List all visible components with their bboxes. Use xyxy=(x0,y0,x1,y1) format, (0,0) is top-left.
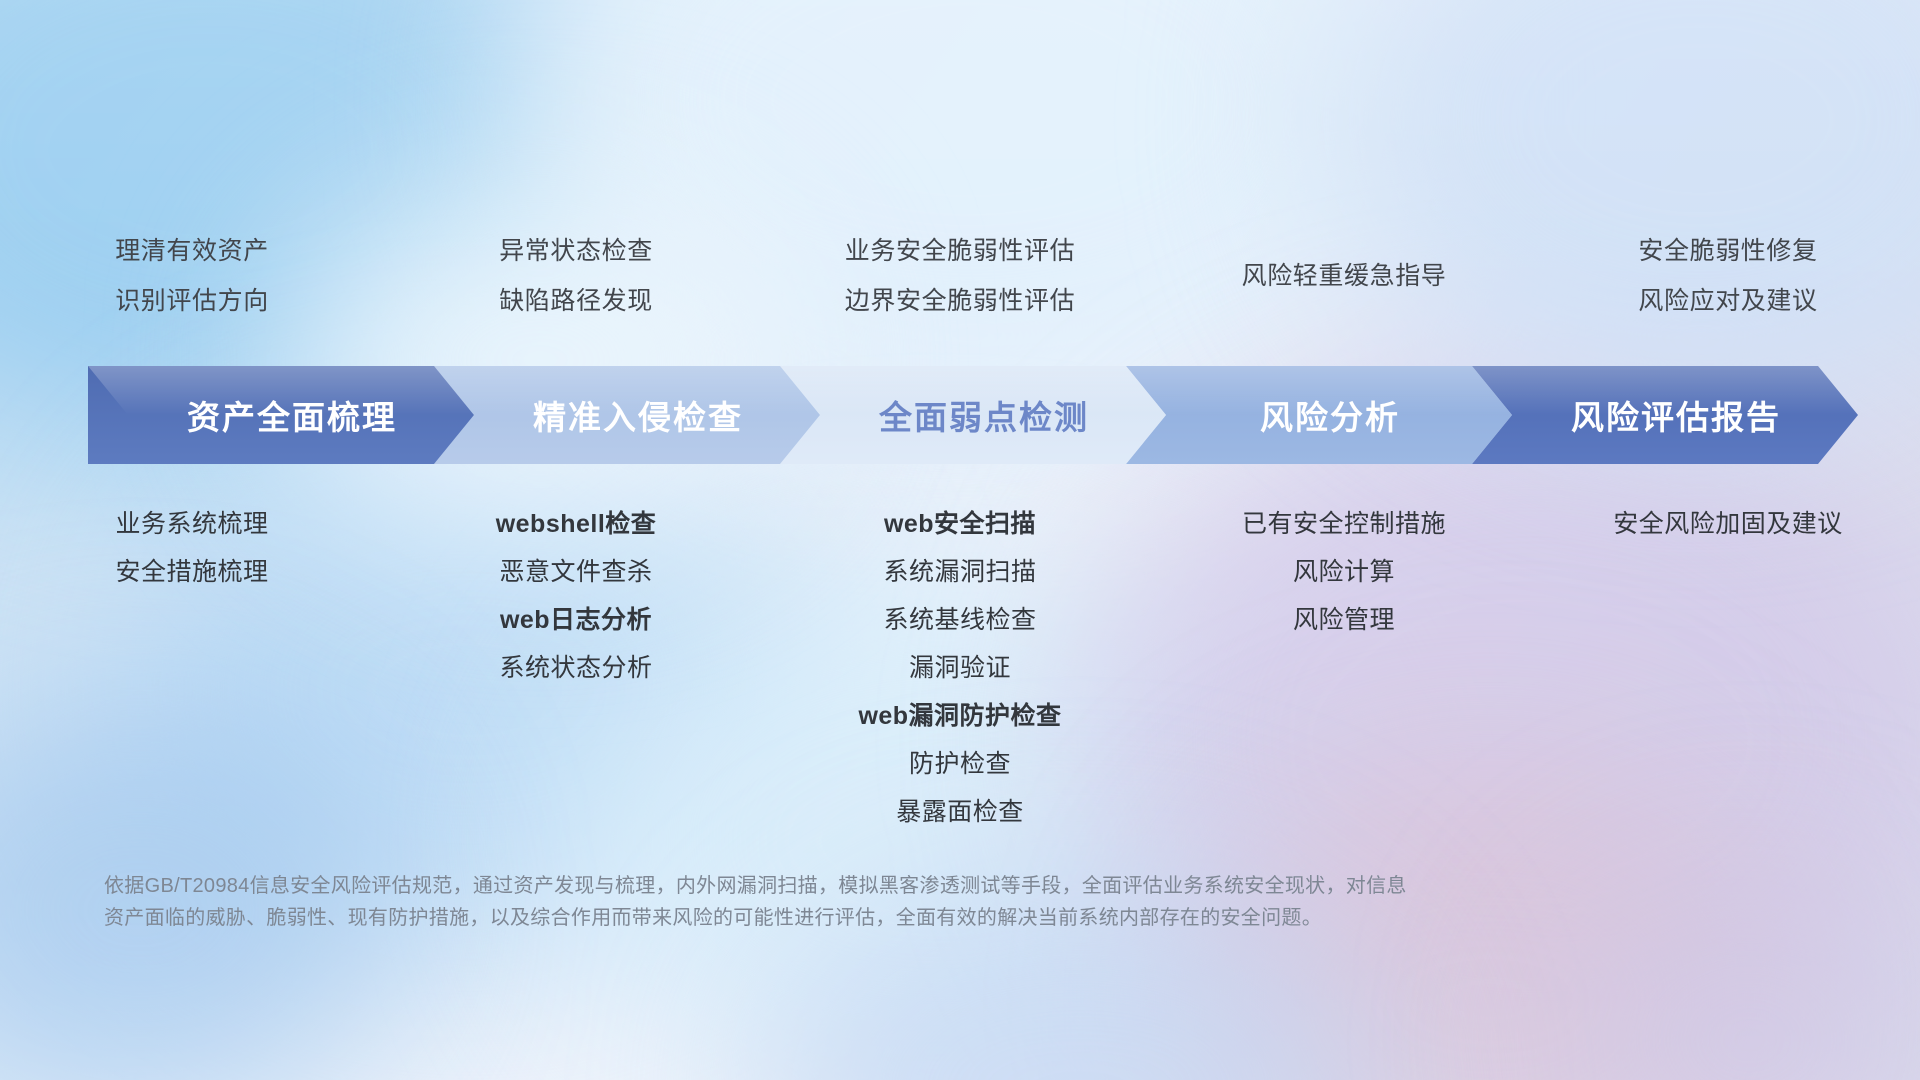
footer-description: 依据GB/T20984信息安全风险评估规范，通过资产发现与梳理，内外网漏洞扫描，… xyxy=(104,870,1624,934)
top-label: 业务安全脆弱性评估 xyxy=(845,226,1075,276)
chevron-asset-inventory[interactable]: 资产全面梳理 xyxy=(88,366,474,464)
stage-detail-list-assessment-report: 安全风险加固及建议 xyxy=(1536,500,1920,548)
top-label: 风险轻重缓急指导 xyxy=(1242,251,1447,301)
detail-item: webshell检查 xyxy=(496,500,657,548)
stage-detail-list-asset-inventory: 业务系统梳理安全措施梳理 xyxy=(0,500,384,596)
detail-item: 防护检查 xyxy=(909,740,1011,788)
top-label: 边界安全脆弱性评估 xyxy=(845,276,1075,326)
top-label: 识别评估方向 xyxy=(115,276,269,326)
top-label: 缺陷路径发现 xyxy=(499,276,653,326)
detail-item: 已有安全控制措施 xyxy=(1242,500,1446,548)
detail-item: 业务系统梳理 xyxy=(115,500,268,548)
stage-top-labels-weakness-detection: 业务安全脆弱性评估边界安全脆弱性评估 xyxy=(768,226,1152,336)
stage-top-labels-assessment-report: 安全脆弱性修复风险应对及建议 xyxy=(1536,226,1920,336)
detail-item: 系统漏洞扫描 xyxy=(883,548,1036,596)
chevron-weakness-detection[interactable]: 全面弱点检测 xyxy=(780,366,1166,464)
stage-detail-lists-row: 业务系统梳理安全措施梳理webshell检查恶意文件查杀web日志分析系统状态分… xyxy=(0,500,1920,830)
chevron-label: 风险评估报告 xyxy=(1549,391,1781,439)
detail-item: 恶意文件查杀 xyxy=(499,548,652,596)
stage-top-labels-asset-inventory: 理清有效资产识别评估方向 xyxy=(0,226,384,336)
stage-detail-list-weakness-detection: web安全扫描系统漏洞扫描系统基线检查漏洞验证web漏洞防护检查防护检查暴露面检… xyxy=(768,500,1152,836)
chevron-label: 精准入侵检查 xyxy=(511,391,743,439)
stage-top-labels-intrusion-check: 异常状态检查缺陷路径发现 xyxy=(384,226,768,336)
stage-detail-list-risk-analysis: 已有安全控制措施风险计算风险管理 xyxy=(1152,500,1536,644)
top-label: 安全脆弱性修复 xyxy=(1638,226,1817,276)
stage-top-labels-row: 理清有效资产识别评估方向异常状态检查缺陷路径发现业务安全脆弱性评估边界安全脆弱性… xyxy=(0,226,1920,336)
detail-item: 暴露面检查 xyxy=(896,788,1024,836)
detail-item: 风险计算 xyxy=(1293,548,1395,596)
chevron-label: 资产全面梳理 xyxy=(165,391,397,439)
detail-item: 安全风险加固及建议 xyxy=(1613,500,1843,548)
stage-detail-list-intrusion-check: webshell检查恶意文件查杀web日志分析系统状态分析 xyxy=(384,500,768,692)
stage-top-labels-risk-analysis: 风险轻重缓急指导 xyxy=(1152,226,1536,336)
top-label: 理清有效资产 xyxy=(115,226,269,276)
detail-item: web日志分析 xyxy=(500,596,652,644)
top-label: 风险应对及建议 xyxy=(1638,276,1817,326)
detail-item: 漏洞验证 xyxy=(909,644,1011,692)
detail-item: 系统状态分析 xyxy=(499,644,652,692)
chevron-risk-analysis[interactable]: 风险分析 xyxy=(1126,366,1512,464)
chevron-assessment-report[interactable]: 风险评估报告 xyxy=(1472,366,1858,464)
detail-item: 风险管理 xyxy=(1293,596,1395,644)
detail-item: 系统基线检查 xyxy=(883,596,1036,644)
footer-line-2: 资产面临的威胁、脆弱性、现有防护措施，以及综合作用而带来风险的可能性进行评估，全… xyxy=(104,902,1624,934)
detail-item: web安全扫描 xyxy=(884,500,1036,548)
chevron-label: 风险分析 xyxy=(1238,391,1400,439)
process-chevron-band: 资产全面梳理精准入侵检查全面弱点检测风险分析风险评估报告 xyxy=(88,366,1858,464)
detail-item: web漏洞防护检查 xyxy=(858,692,1061,740)
detail-item: 安全措施梳理 xyxy=(115,548,268,596)
chevron-intrusion-check[interactable]: 精准入侵检查 xyxy=(434,366,820,464)
top-label: 异常状态检查 xyxy=(499,226,653,276)
chevron-label: 全面弱点检测 xyxy=(857,391,1089,439)
footer-line-1: 依据GB/T20984信息安全风险评估规范，通过资产发现与梳理，内外网漏洞扫描，… xyxy=(104,870,1624,902)
